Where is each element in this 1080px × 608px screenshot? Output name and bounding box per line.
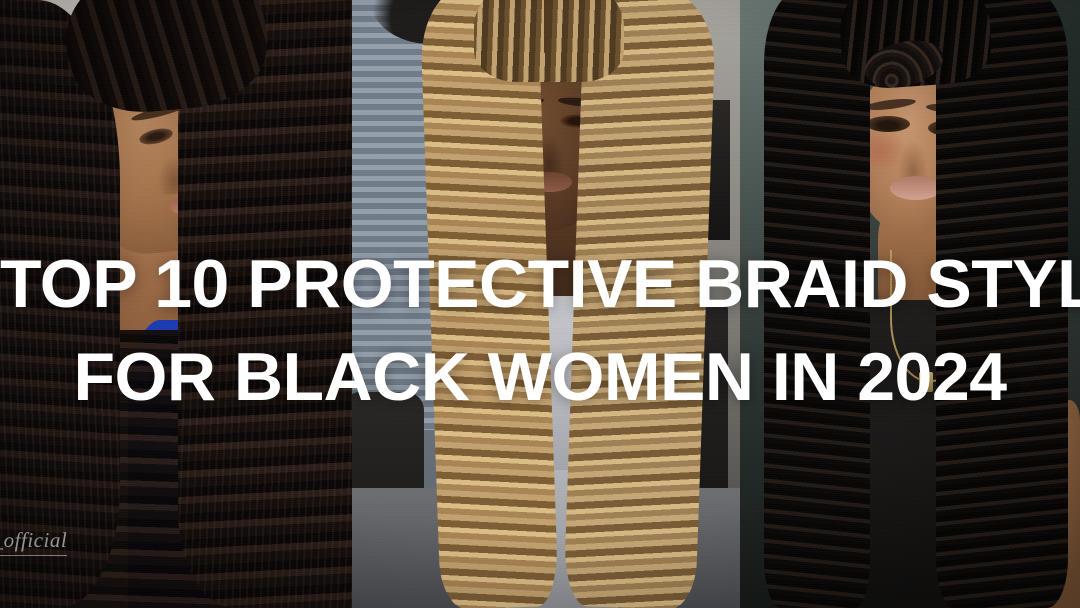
image-panel-right (740, 0, 1080, 608)
panel-right-box-braids-left (764, 0, 870, 608)
image-panel-left (0, 0, 352, 608)
blog-hero-banner: YWIGS (0, 0, 1080, 608)
panel-center-hair-part (544, 0, 549, 54)
panel-left-eye (138, 126, 174, 147)
watermark-account-handle: s_official (0, 528, 67, 556)
image-panel-group: YWIGS (0, 0, 1080, 608)
panel-right-eye-left (866, 116, 910, 132)
panel-right-lips (890, 176, 942, 200)
panel-right-box-braids-right (936, 0, 1068, 608)
panel-right-nose (898, 140, 928, 180)
image-panel-center: YWIGS (352, 0, 740, 608)
panel-center-blonde-braids-right (563, 0, 716, 608)
panel-right-gold-pendant (919, 372, 933, 392)
panel-center-braid-crown (474, 0, 624, 82)
panel-center-blonde-braids-left (419, 0, 559, 608)
